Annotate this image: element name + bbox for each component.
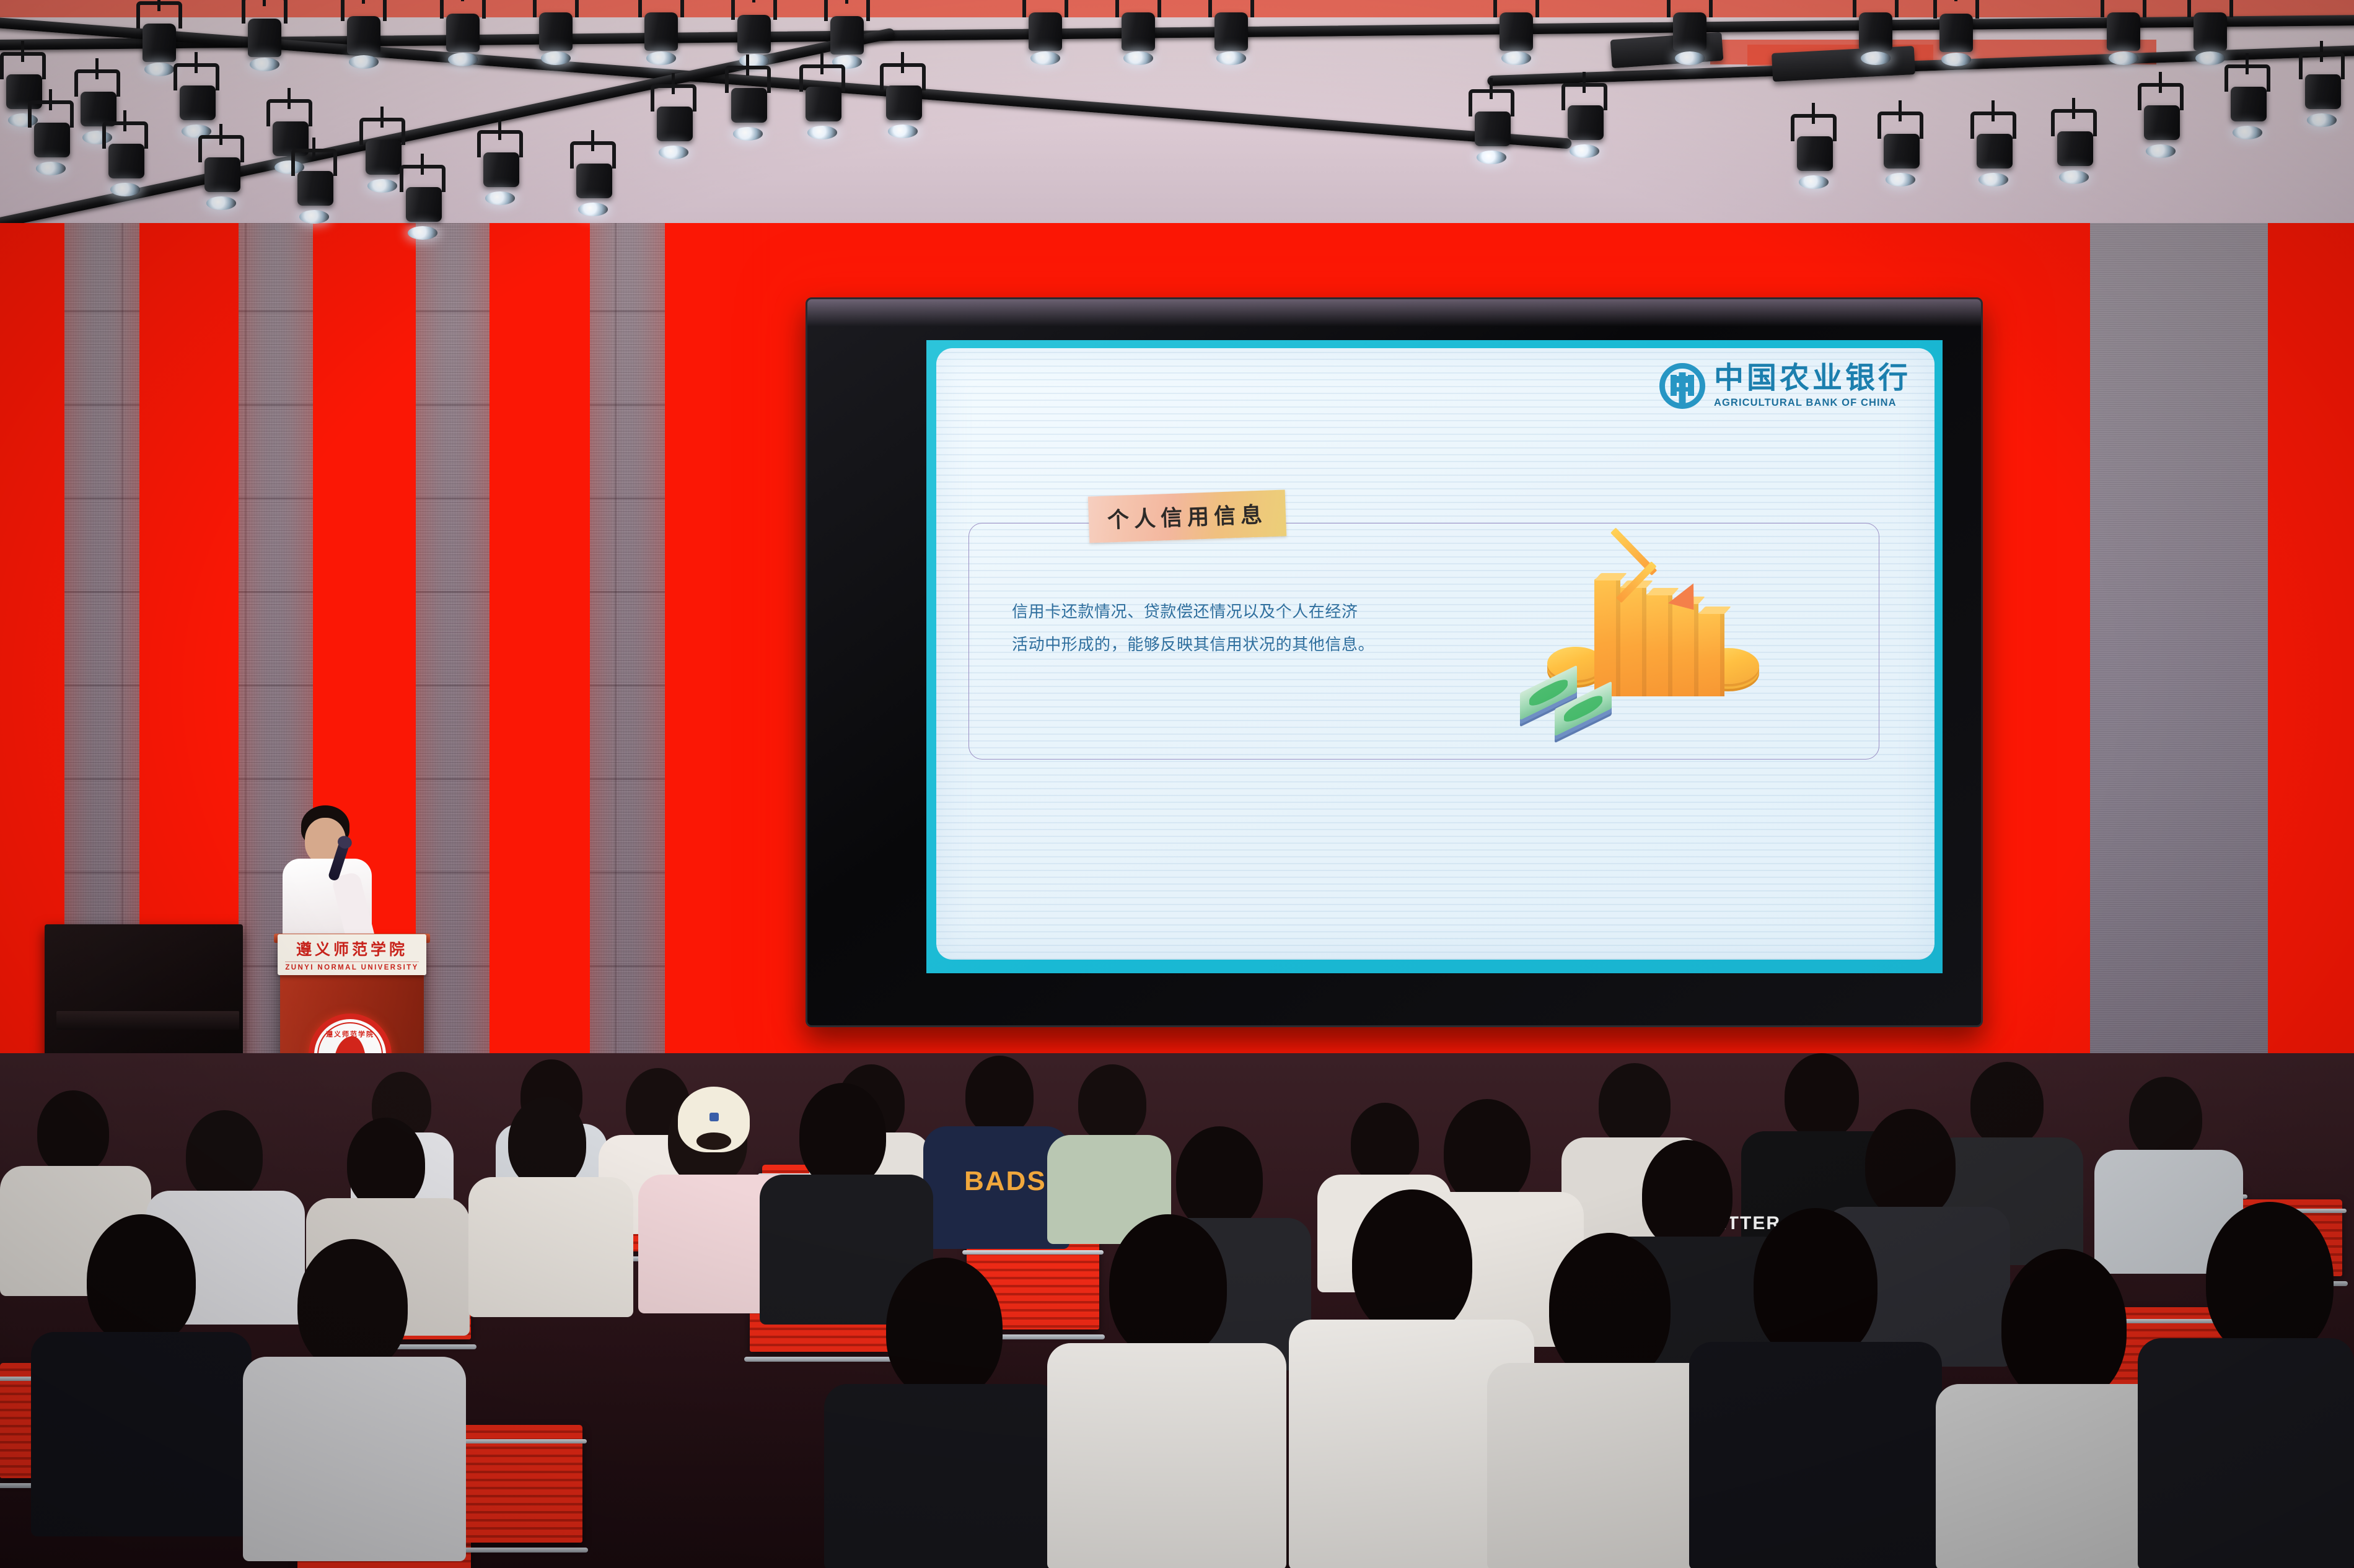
audience-head xyxy=(1444,1099,1531,1204)
stage-light xyxy=(1797,124,1830,183)
stage-light xyxy=(539,0,573,59)
audience-head xyxy=(1865,1109,1956,1219)
stage-light xyxy=(576,151,610,211)
audience-head xyxy=(1970,1062,2044,1146)
audience-head xyxy=(799,1083,886,1187)
piano-keyboard xyxy=(56,1011,239,1030)
audience-head xyxy=(965,1056,1034,1135)
audience-head xyxy=(1109,1214,1227,1358)
podium-university-name-en: ZUNYI NORMAL UNIVERSITY xyxy=(285,961,418,971)
stage-light xyxy=(204,145,238,204)
stage-light xyxy=(1568,93,1601,152)
audience-head xyxy=(1352,1189,1472,1336)
stage-light xyxy=(248,6,281,66)
audience-head xyxy=(87,1214,196,1346)
stage-light xyxy=(34,110,68,170)
stage-light xyxy=(1475,99,1508,159)
audience-body xyxy=(824,1384,1061,1568)
stage-light xyxy=(1122,0,1155,59)
audience-head xyxy=(1078,1064,1146,1142)
audience-head xyxy=(347,1118,425,1209)
abc-bank-mark-icon xyxy=(1659,363,1705,409)
stage-light xyxy=(2305,62,2339,121)
abc-bank-mark-bars xyxy=(1671,375,1694,400)
stage-light xyxy=(1214,0,1248,59)
slide-title-text: 个人信用信息 xyxy=(1107,503,1267,533)
audience-body xyxy=(243,1357,466,1561)
stone-column-right xyxy=(2090,68,2268,1121)
shirt-graphic-text-navy: BADS xyxy=(964,1166,1047,1197)
baseball-cap xyxy=(678,1087,750,1152)
presentation-slide: 中国农业银行 AGRICULTURAL BANK OF CHINA 个人信用信息… xyxy=(926,340,1943,973)
stage-light xyxy=(1859,0,1892,59)
slide-canvas: 中国农业银行 AGRICULTURAL BANK OF CHINA 个人信用信息… xyxy=(936,348,1935,960)
audience-head xyxy=(1549,1233,1671,1382)
money-chart-illustration xyxy=(1519,525,1767,730)
stage-light xyxy=(406,175,439,234)
audience-head xyxy=(2206,1202,2334,1358)
audience-body xyxy=(1047,1343,1286,1568)
audience-head xyxy=(2001,1249,2127,1403)
audience-head xyxy=(1642,1140,1733,1249)
stage-light xyxy=(297,159,331,218)
slide-paragraph-line-2: 活动中形成的，能够反映其信用状况的其他信息。 xyxy=(1012,629,1483,662)
slide-paragraph-line-1: 信用卡还款情况、贷款偿还情况以及个人在经济 xyxy=(1012,596,1483,629)
stage-light xyxy=(2231,74,2264,134)
audience-head xyxy=(1351,1103,1419,1183)
audience-head xyxy=(508,1097,586,1188)
stage-light xyxy=(886,73,920,133)
stage-light xyxy=(2057,119,2091,178)
led-screen-display: 中国农业银行 AGRICULTURAL BANK OF CHINA 个人信用信息… xyxy=(926,340,1943,973)
abc-bank-name-cn: 中国农业银行 xyxy=(1714,363,1911,393)
slide-paragraph: 信用卡还款情况、贷款偿还情况以及个人在经济 活动中形成的，能够反映其信用状况的其… xyxy=(1012,596,1483,662)
audience-head xyxy=(1785,1053,1859,1139)
stage-light xyxy=(180,73,213,133)
cap-back-gap xyxy=(696,1132,731,1150)
cap-logo-icon xyxy=(709,1113,719,1121)
stage-light xyxy=(366,128,399,187)
audience-head xyxy=(1176,1126,1263,1230)
bar-5 xyxy=(1698,612,1724,696)
stage-light xyxy=(446,1,480,61)
screen-top-gloss xyxy=(807,299,1981,326)
audience-head xyxy=(1754,1208,1877,1360)
led-screen-frame: 中国农业银行 AGRICULTURAL BANK OF CHINA 个人信用信息… xyxy=(806,297,1983,1027)
stage-light xyxy=(657,94,690,154)
stage-light xyxy=(2144,93,2177,152)
stage-light xyxy=(830,4,864,63)
audience-head xyxy=(37,1090,109,1175)
stage-light xyxy=(644,0,678,59)
audience-head xyxy=(886,1258,1003,1399)
abc-bank-logo: 中国农业银行 AGRICULTURAL BANK OF CHINA xyxy=(1659,363,1911,409)
audience-head xyxy=(2129,1077,2202,1160)
audience-head xyxy=(186,1110,263,1201)
podium-name-plate: 遵义师范学院 ZUNYI NORMAL UNIVERSITY xyxy=(278,934,426,975)
audience-area: BADS ABS BETTER xyxy=(0,1053,2354,1568)
stage-light xyxy=(108,131,142,191)
stage-light xyxy=(483,140,517,199)
stage-light xyxy=(1500,0,1533,59)
stage-light xyxy=(806,74,839,134)
audience-body xyxy=(2138,1338,2354,1568)
stage-light xyxy=(2194,0,2227,59)
stage-light xyxy=(1939,1,1973,61)
stage-light xyxy=(1884,121,1917,181)
bar-3 xyxy=(1646,593,1672,696)
stage-light xyxy=(2107,0,2140,59)
podium-university-name-cn: 遵义师范学院 xyxy=(296,937,408,960)
audience-body xyxy=(31,1332,252,1536)
abc-bank-name-en: AGRICULTURAL BANK OF CHINA xyxy=(1714,397,1911,409)
audience-head xyxy=(297,1239,408,1372)
stage-light xyxy=(737,2,771,62)
audience-body xyxy=(468,1177,633,1317)
stage-light xyxy=(1673,0,1706,59)
audience-body xyxy=(1689,1342,1942,1568)
slide-title-banner: 个人信用信息 xyxy=(1088,489,1286,543)
stage-light xyxy=(731,76,765,135)
lecture-hall-photo: 中国农业银行 AGRICULTURAL BANK OF CHINA 个人信用信息… xyxy=(0,0,2354,1568)
stage-light xyxy=(1977,121,2010,181)
stage-light xyxy=(347,4,380,63)
audience-head xyxy=(1599,1063,1671,1146)
stage-light xyxy=(143,11,176,71)
bar-2 xyxy=(1620,586,1646,696)
stage-light xyxy=(1029,0,1062,59)
